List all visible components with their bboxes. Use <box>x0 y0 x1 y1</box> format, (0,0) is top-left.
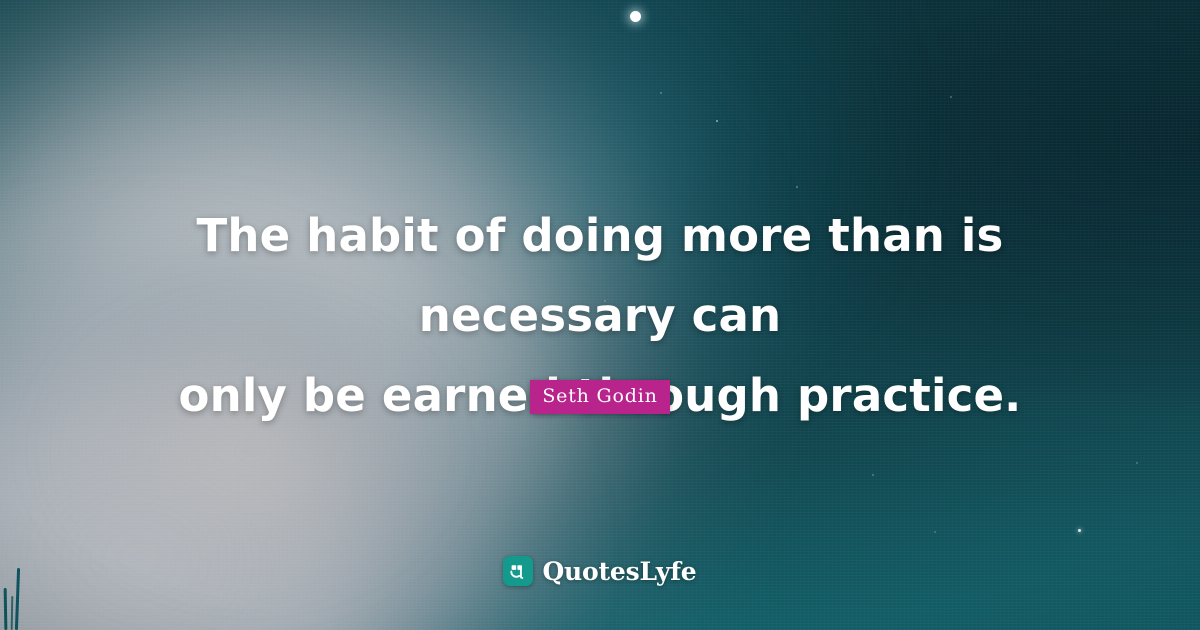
brand-logo[interactable]: QuotesLyfe <box>0 556 1200 586</box>
author-attribution: Seth Godin <box>0 380 1200 414</box>
quote-line-1: The habit of doing more than is necessar… <box>62 196 1138 356</box>
quote-mark-icon <box>503 556 533 586</box>
author-name-badge[interactable]: Seth Godin <box>530 380 669 414</box>
brand-name-text: QuotesLyfe <box>542 557 696 586</box>
card-content: The habit of doing more than is necessar… <box>0 0 1200 630</box>
quote-card: The habit of doing more than is necessar… <box>0 0 1200 630</box>
